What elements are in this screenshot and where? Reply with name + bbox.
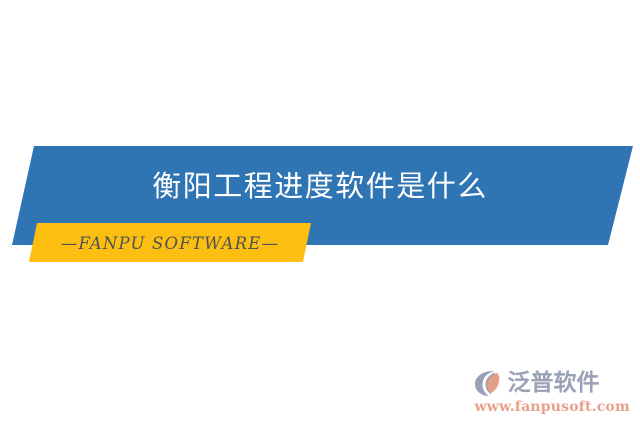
- banner-card: 衡阳工程进度软件是什么 —FANPU SOFTWARE— 泛普软件 www.fa…: [0, 0, 640, 427]
- fanpu-logo-mark-icon: [473, 368, 503, 398]
- brand-website-text: www.fanpusoft.com: [474, 399, 630, 415]
- brand-name-text: 泛普软件: [507, 372, 599, 395]
- brand-logo-row: 泛普软件: [473, 368, 599, 398]
- brand-logo: 泛普软件 www.fanpusoft.com: [473, 368, 630, 415]
- yellow-banner-shape: [0, 220, 340, 266]
